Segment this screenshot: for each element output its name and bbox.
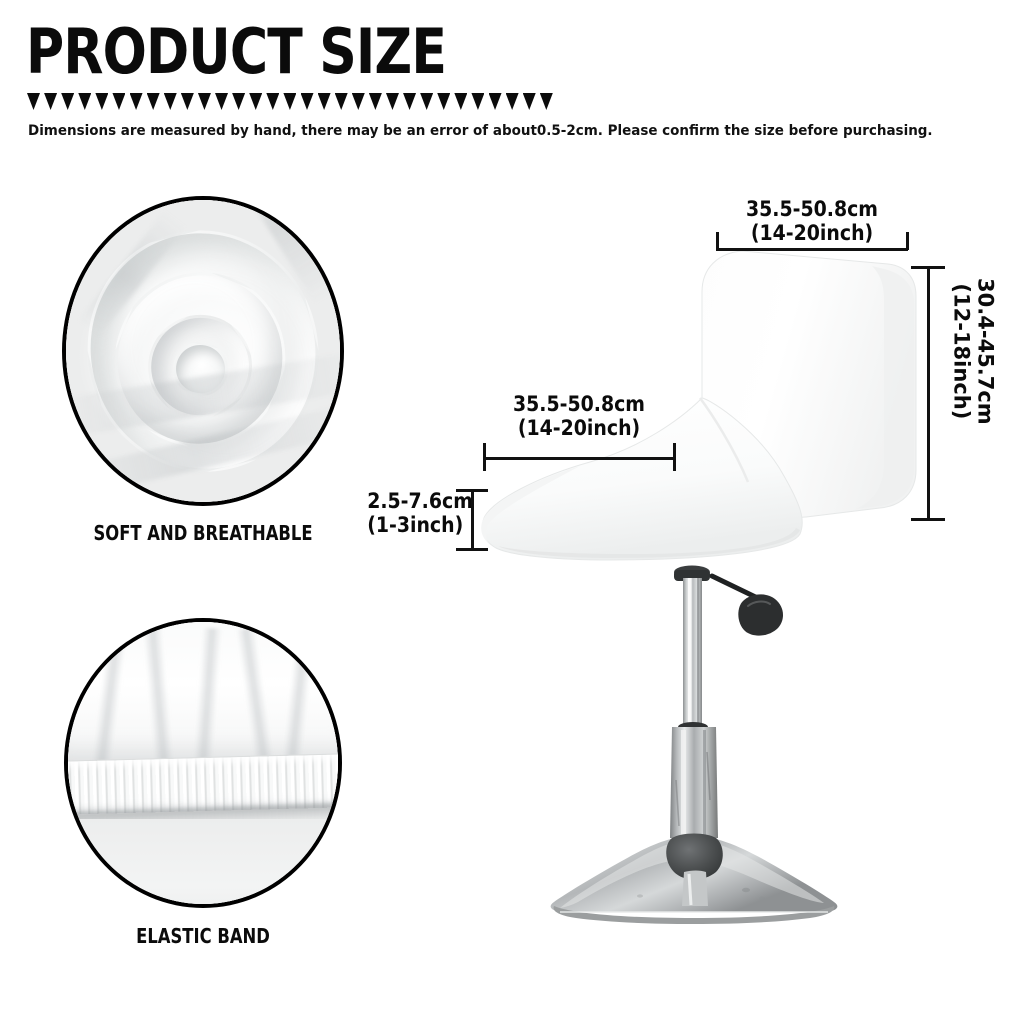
dimension-line xyxy=(716,248,908,251)
dimension-line xyxy=(927,266,930,520)
product-size-infographic: PRODUCT SIZE Dimensions are measured by … xyxy=(0,0,1024,1024)
dimension-tick-bottom xyxy=(911,518,945,521)
dimension-tick-right xyxy=(673,443,676,471)
dimension-value-cm: 35.5-50.8cm xyxy=(493,392,666,416)
dimension-value-cm: 30.4-45.7cm xyxy=(973,251,997,451)
dimension-line xyxy=(483,457,675,460)
dimension-value-inch: (14-20inch) xyxy=(493,416,666,440)
dimension-tick-left xyxy=(716,232,719,250)
dimension-tick-right xyxy=(906,232,909,250)
dimension-value-cm: 2.5-7.6cm xyxy=(367,489,461,513)
dimension-line xyxy=(471,489,474,551)
dimension-value-inch: (1-3inch) xyxy=(367,513,461,537)
dimension-tick-top xyxy=(911,266,945,269)
dimension-tick-bottom xyxy=(456,548,488,551)
dimension-value-inch: (14-20inch) xyxy=(722,221,902,245)
dimension-value-inch: (12-18inch) xyxy=(949,251,973,451)
dimension-value-cm: 35.5-50.8cm xyxy=(722,197,902,221)
chair-product-image xyxy=(0,0,1024,1024)
dimension-tick-top xyxy=(456,489,488,492)
dimension-tick-left xyxy=(483,443,486,471)
